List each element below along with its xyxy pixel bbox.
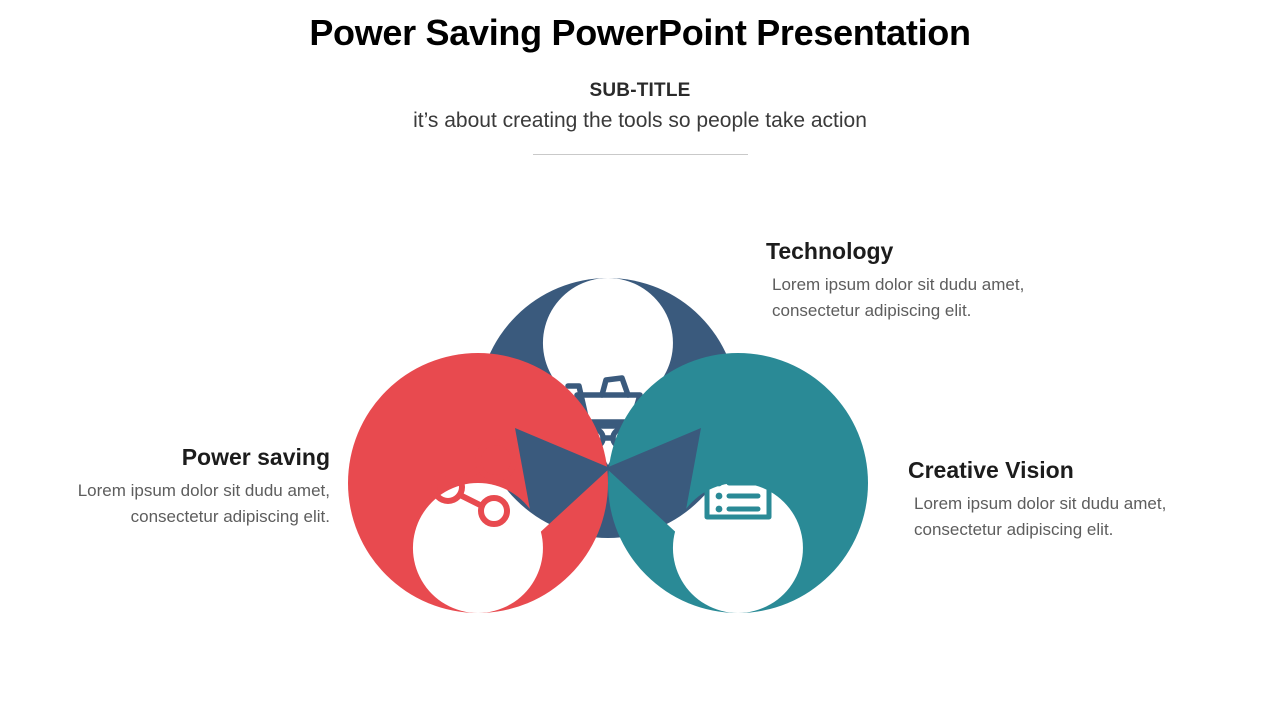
segment-power-saving[interactable] — [348, 353, 608, 613]
power-saving-ring[interactable] — [348, 353, 608, 613]
callout-technology-body: Lorem ipsum dolor sit dudu amet, consect… — [766, 272, 1126, 324]
callout-technology-body-line2: consectetur adipiscing elit. — [772, 301, 971, 320]
callout-power-saving-body-line2: consectetur adipiscing elit. — [131, 507, 330, 526]
callout-creative-vision-body: Lorem ipsum dolor sit dudu amet, consect… — [908, 491, 1268, 543]
callout-creative-vision-title: Creative Vision — [908, 455, 1268, 485]
callout-power-saving-body-line1: Lorem ipsum dolor sit dudu amet, — [78, 481, 330, 500]
callout-technology-title: Technology — [766, 236, 1126, 266]
callout-creative-vision-body-line2: consectetur adipiscing elit. — [914, 520, 1113, 539]
subtitle-label: SUB-TITLE — [0, 78, 1280, 104]
callout-power-saving-title: Power saving — [10, 442, 330, 472]
callout-power-saving: Power saving Lorem ipsum dolor sit dudu … — [10, 442, 330, 530]
subtitle-block: SUB-TITLE it’s about creating the tools … — [0, 78, 1280, 155]
callout-creative-vision-body-line1: Lorem ipsum dolor sit dudu amet, — [914, 494, 1166, 513]
segment-creative-vision[interactable] — [608, 353, 868, 613]
callout-technology-body-line1: Lorem ipsum dolor sit dudu amet, — [772, 275, 1024, 294]
subtitle-text: it’s about creating the tools so people … — [0, 106, 1280, 136]
callout-power-saving-body: Lorem ipsum dolor sit dudu amet, consect… — [10, 478, 330, 530]
callout-technology: Technology Lorem ipsum dolor sit dudu am… — [766, 236, 1126, 324]
callout-creative-vision: Creative Vision Lorem ipsum dolor sit du… — [908, 455, 1268, 543]
page-title: Power Saving PowerPoint Presentation — [0, 12, 1280, 54]
subtitle-divider — [533, 154, 748, 155]
